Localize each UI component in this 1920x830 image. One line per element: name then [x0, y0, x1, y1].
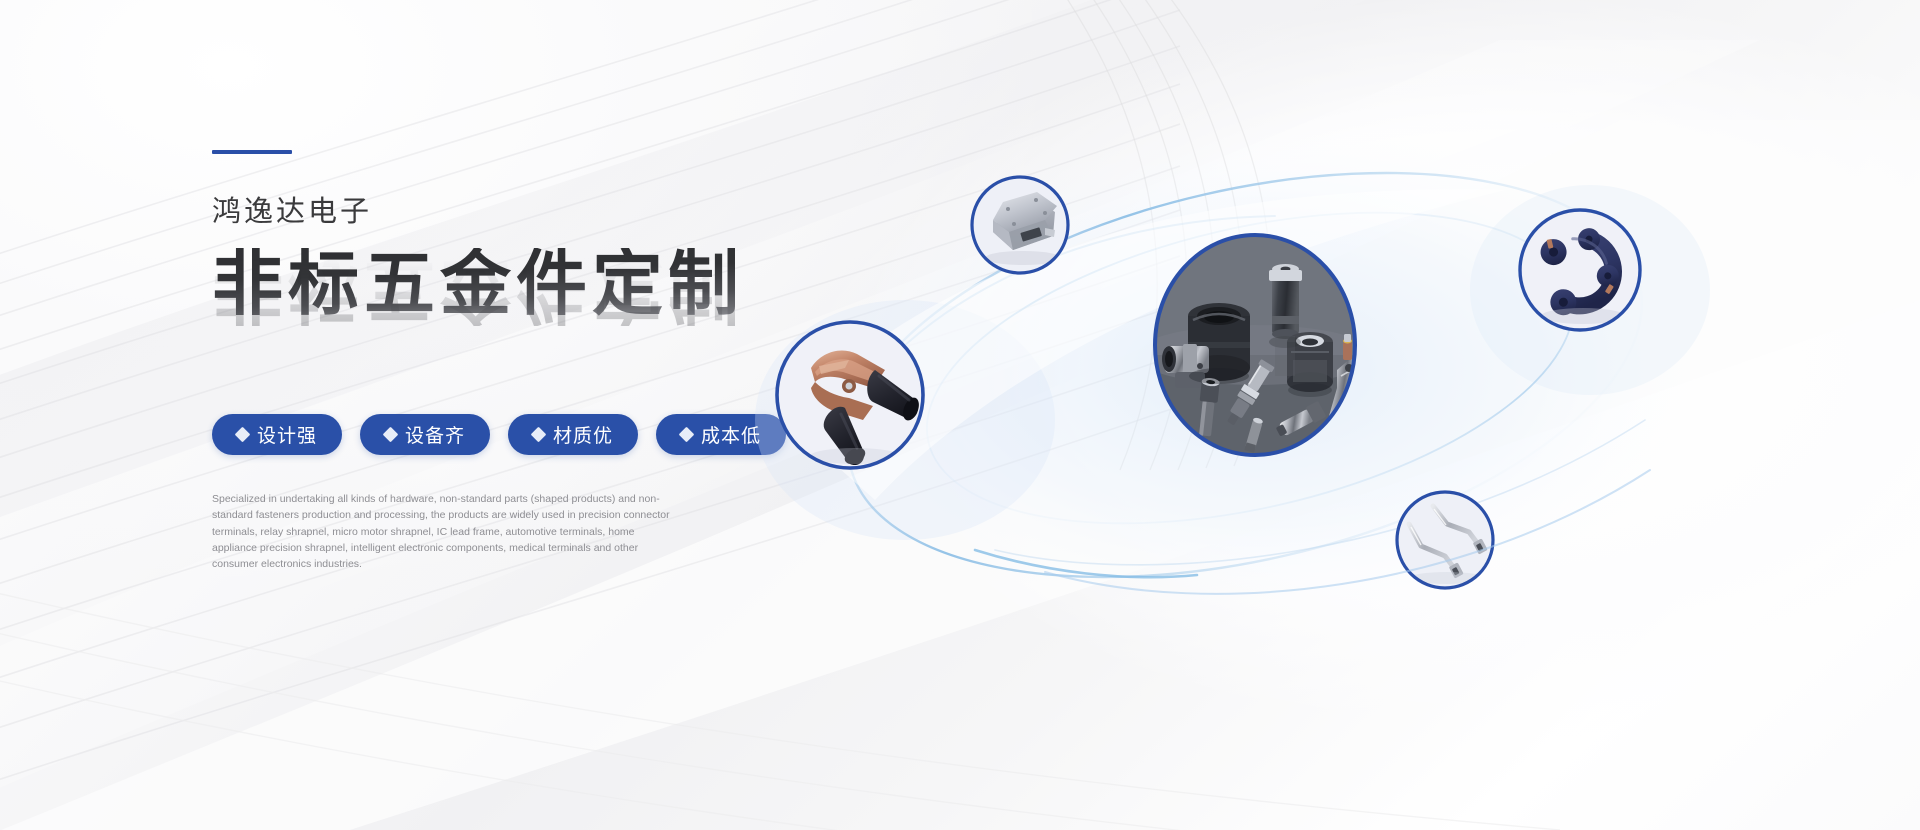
terminal-pins-thumbnail[interactable] — [1397, 492, 1493, 588]
battery-clamp-thumbnail[interactable] — [777, 322, 923, 468]
feature-badge-equipment[interactable]: 设备齐 — [360, 414, 490, 455]
feature-badge-label: 设备齐 — [405, 421, 465, 448]
feature-badge-label: 设计强 — [257, 421, 317, 448]
diamond-icon — [383, 427, 399, 443]
diamond-icon — [679, 427, 695, 443]
retaining-ring-thumbnail[interactable] — [1520, 210, 1640, 330]
product-showcase — [745, 120, 1765, 660]
company-description: Specialized in undertaking all kinds of … — [212, 491, 682, 572]
hero-banner: 鸿逸达电子 非标五金件定制 非标五金件定制 设计强 设备齐 材质优 成本低 — [0, 0, 1920, 830]
feature-badge-material[interactable]: 材质优 — [508, 414, 638, 455]
feature-badge-design[interactable]: 设计强 — [212, 414, 342, 455]
metal-enclosure-thumbnail[interactable] — [972, 177, 1068, 273]
diamond-icon — [531, 427, 547, 443]
feature-badge-label: 材质优 — [553, 421, 613, 448]
accent-rule — [212, 150, 292, 154]
diamond-icon — [235, 427, 251, 443]
